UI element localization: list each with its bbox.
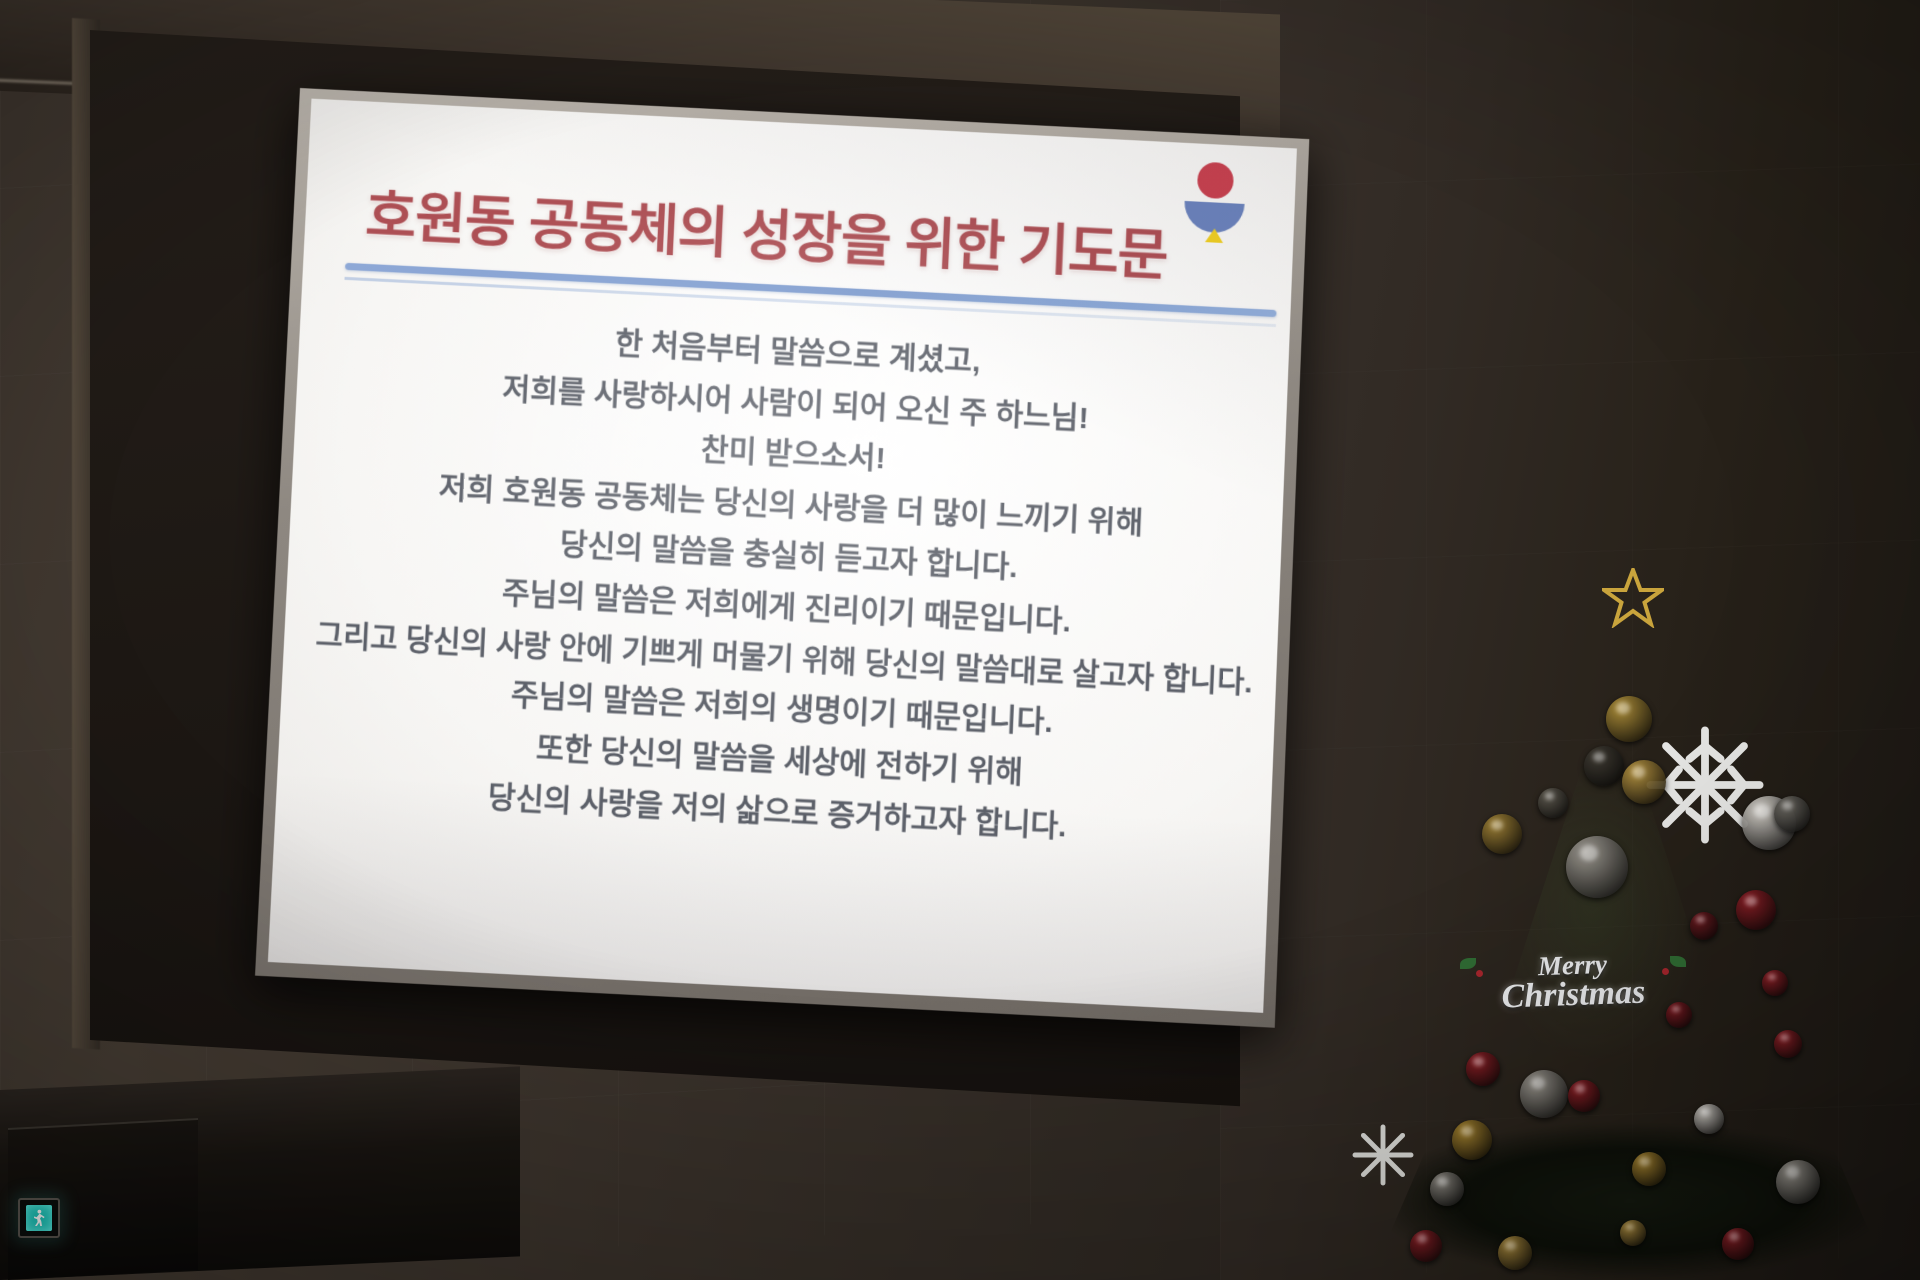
tree-ornament: [1520, 1070, 1568, 1118]
tree-ornament: [1482, 814, 1522, 854]
screen-frame: 호원동 공동체의 성장을 위한 기도문 한 처음부터 말씀으로 계셨고, 저희를…: [255, 88, 1309, 1028]
tree-ornament: [1632, 1152, 1666, 1186]
holly-berry-icon: [1476, 970, 1483, 977]
tree-ornament: [1736, 890, 1776, 930]
tree-ornament: [1538, 788, 1568, 818]
exit-sign-panel: [26, 1205, 52, 1231]
presentation-slide: 호원동 공동체의 성장을 위한 기도문 한 처음부터 말씀으로 계셨고, 저희를…: [268, 99, 1297, 1013]
emergency-exit-sign: [18, 1198, 60, 1238]
logo-yellow-triangle: [1205, 228, 1224, 243]
tree-ornament: [1622, 760, 1666, 804]
tree-ornament: [1690, 912, 1718, 940]
tree-ornament: [1452, 1120, 1492, 1160]
tree-ornament: [1774, 1030, 1802, 1058]
tree-ornament: [1694, 1104, 1724, 1134]
running-person-icon: [32, 1209, 46, 1227]
tree-ornament: [1430, 1172, 1464, 1206]
holly-leaf-icon: [1670, 956, 1686, 967]
tree-star-topper-icon: [1602, 568, 1664, 628]
projection-screen: 호원동 공동체의 성장을 위한 기도문 한 처음부터 말씀으로 계셨고, 저희를…: [255, 88, 1309, 1028]
logo-red-circle: [1197, 162, 1234, 200]
tree-ornament: [1666, 1002, 1692, 1028]
room-scene: 호원동 공동체의 성장을 위한 기도문 한 처음부터 말씀으로 계셨고, 저희를…: [0, 0, 1920, 1280]
snowflake-ornament-small-icon: [1348, 1120, 1418, 1195]
tree-ornament: [1762, 970, 1788, 996]
tree-ornament: [1776, 1160, 1820, 1204]
holly-berry-icon: [1662, 968, 1669, 975]
tree-ornament: [1722, 1228, 1754, 1260]
tree-ornament: [1566, 836, 1628, 898]
tree-ornament: [1774, 796, 1810, 832]
parish-logo-icon: [1181, 161, 1248, 242]
tree-ornament: [1620, 1220, 1646, 1246]
merry-christmas-sign: Merry Christmas: [1457, 948, 1689, 1016]
tree-ornament: [1606, 696, 1652, 742]
slide-body: 한 처음부터 말씀으로 계셨고, 저희를 사랑하시어 사람이 되어 오신 주 하…: [299, 305, 1266, 985]
christmas-tree: Merry Christmas: [1310, 560, 1920, 1280]
tree-ornament: [1568, 1080, 1600, 1112]
tree-ornament: [1410, 1230, 1442, 1262]
tree-ornament: [1466, 1052, 1500, 1086]
tree-ornament: [1498, 1236, 1532, 1270]
tree-ornament: [1584, 746, 1624, 786]
